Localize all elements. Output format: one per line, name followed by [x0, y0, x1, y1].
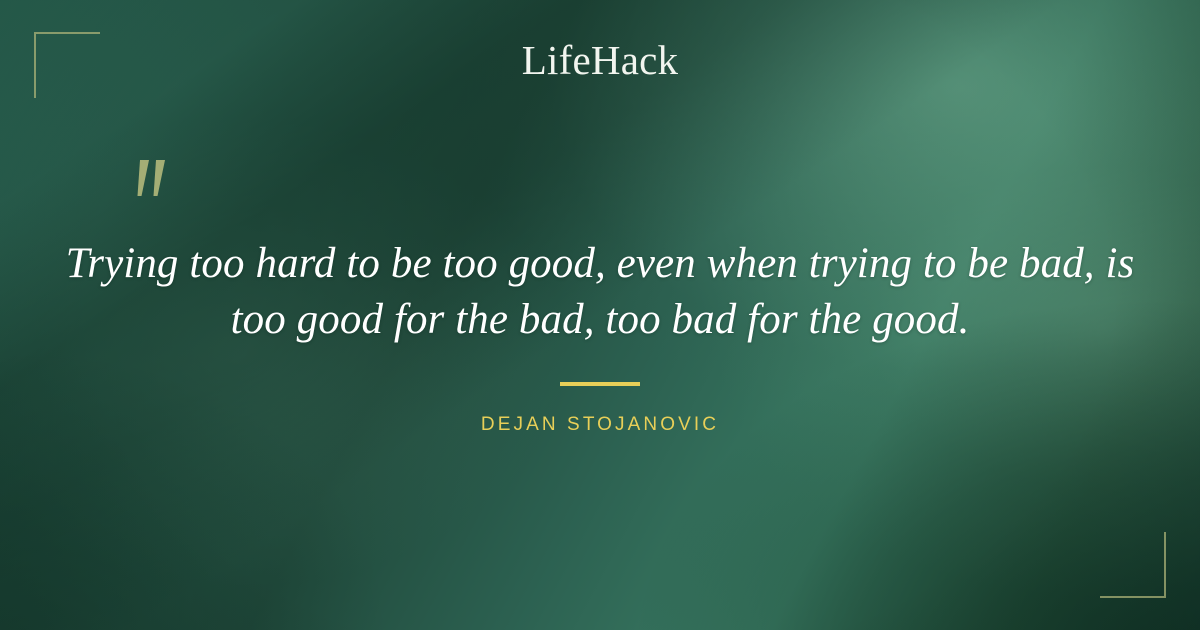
double-quote-icon [128, 158, 180, 220]
quote-author: DEJAN STOJANOVIC [0, 414, 1200, 436]
gold-divider [560, 382, 640, 386]
quote-text: Trying too hard to be too good, even whe… [60, 236, 1140, 348]
quote-card: LifeHack Trying too hard to be too good,… [0, 0, 1200, 630]
quote-text-block: Trying too hard to be too good, even whe… [60, 236, 1140, 348]
brand-logo: LifeHack [0, 38, 1200, 83]
corner-bracket-bottom-right-icon [1100, 532, 1166, 598]
